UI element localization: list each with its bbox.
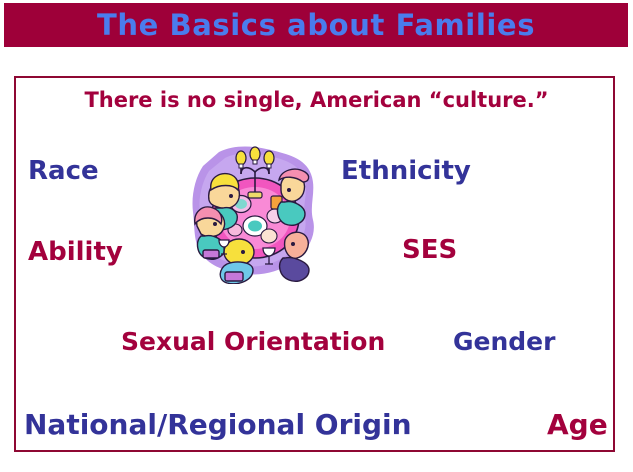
family-dinner-table-clipart (189, 144, 321, 284)
title-banner: The Basics about Families (4, 3, 628, 47)
page-title: The Basics about Families (97, 11, 535, 40)
term-gender: Gender (453, 329, 555, 354)
term-ability: Ability (28, 239, 123, 265)
term-ses: SES (402, 237, 457, 263)
term-ethnicity: Ethnicity (341, 158, 471, 184)
term-national-regional-origin: National/Regional Origin (24, 411, 412, 439)
content-box: There is no single, American “culture.” … (14, 76, 615, 452)
slide: The Basics about Families There is no si… (0, 0, 633, 472)
term-sexual-orientation: Sexual Orientation (121, 329, 385, 354)
term-age: Age (547, 411, 608, 439)
term-race: Race (28, 158, 99, 184)
subtitle-text: There is no single, American “culture.” (16, 88, 617, 112)
